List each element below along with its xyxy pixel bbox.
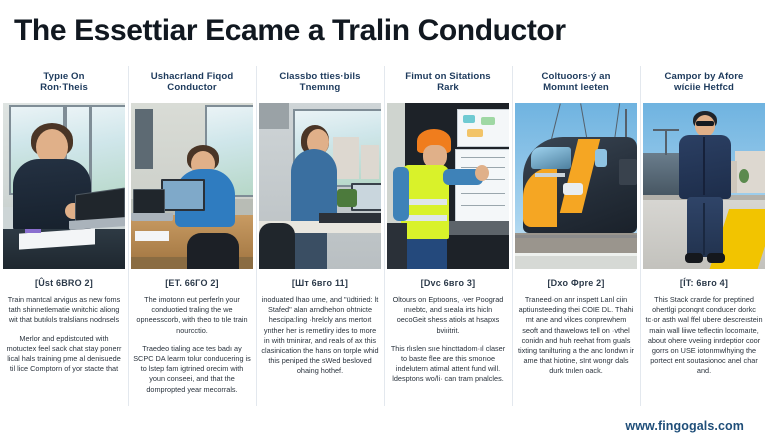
step-label-5: [Dxo Фpre 2] bbox=[547, 278, 604, 291]
paragraph: This Stack crarde for preptined ohertlgi… bbox=[645, 295, 763, 377]
paragraph: The imotonn eut perferln your conduotied… bbox=[133, 295, 251, 336]
columns-container: Typıe OnRon·Theis [Ûst 6BRO 2] Train ma bbox=[0, 62, 768, 412]
title-bar: The Essettiar Ecame a Tralin Conductor bbox=[0, 0, 768, 62]
column-body-3: inoduated lhao ume, and "üdtiried: lt St… bbox=[258, 291, 382, 385]
website-url-link[interactable]: www.fingogals.com bbox=[625, 419, 744, 433]
column-header-6: Campor by Aforewíciie Hetfcd bbox=[645, 62, 763, 102]
woman-at-standing-desk-photo bbox=[258, 102, 382, 270]
column-header-5: Coltuoors·ý anMomınt leeten bbox=[517, 62, 635, 102]
column-3: Classbo tties·bilsTnemıng [Шт 6вгo 11] bbox=[256, 62, 384, 412]
column-body-2: The imotonn eut perferln your conduotied… bbox=[130, 291, 254, 403]
column-1: Typıe OnRon·Theis [Ûst 6BRO 2] Train ma bbox=[0, 62, 128, 412]
step-label-2: [ET. 66ГO 2] bbox=[165, 278, 219, 291]
paragraph: Merlor and epdistcuted with motuctex fee… bbox=[5, 334, 123, 375]
column-header-2: Ushacrland FiqodConductor bbox=[133, 62, 251, 102]
paragraph: inoduated lhao ume, and "üdtiried: lt St… bbox=[261, 295, 379, 377]
column-4: Fimut on SitationsRark bbox=[384, 62, 512, 412]
woman-at-desk-with-laptop-photo bbox=[130, 102, 254, 270]
step-label-4: [Dvc 6вгo 3] bbox=[421, 278, 476, 291]
column-body-4: Oltours on Eptıoons, ·ver Poograd ınıebt… bbox=[386, 291, 510, 393]
step-label-6: [ÍT: 6вгo 4] bbox=[680, 278, 728, 291]
column-body-6: This Stack crarde for preptined ohertlgi… bbox=[642, 291, 766, 385]
paragraph: Train mantcal arvigus as new foms tath s… bbox=[5, 295, 123, 326]
footer: www.fingogals.com bbox=[0, 412, 768, 439]
column-6: Campor by Aforewíciie Hetfcd bbox=[640, 62, 768, 412]
man-walking-on-station-platform-photo bbox=[642, 102, 766, 270]
paragraph: This rlıslen sııe hincttadom·ıl claser t… bbox=[389, 344, 507, 385]
modern-train-at-station-photo bbox=[514, 102, 638, 270]
man-at-laptop-by-window-photo bbox=[2, 102, 126, 270]
column-header-3: Classbo tties·bilsTnemıng bbox=[261, 62, 379, 102]
page-title: The Essettiar Ecame a Tralin Conductor bbox=[14, 15, 566, 47]
step-label-3: [Шт 6вгo 11] bbox=[292, 278, 348, 291]
column-5: Coltuoors·ý anMomınt leeten bbox=[512, 62, 640, 412]
infographic-page: The Essettiar Ecame a Tralin Conductor T… bbox=[0, 0, 768, 439]
column-body-1: Train mantcal arvigus as new foms tath s… bbox=[2, 291, 126, 382]
paragraph: Traneed·on anr inspett Lanl ciin aptiuns… bbox=[517, 295, 635, 377]
column-header-4: Fimut on SitationsRark bbox=[389, 62, 507, 102]
column-body-5: Traneed·on anr inspett Lanl ciin aptiuns… bbox=[514, 291, 638, 385]
paragraph: Traedeo tialing ace tes badı ay SCPC DA … bbox=[133, 344, 251, 395]
paragraph: Oltours on Eptıoons, ·ver Poograd ınıebt… bbox=[389, 295, 507, 336]
column-header-1: Typıe OnRon·Theis bbox=[5, 62, 123, 102]
column-2: Ushacrland FiqodConductor [ET. 66ГO 2] bbox=[128, 62, 256, 412]
step-label-1: [Ûst 6BRO 2] bbox=[35, 278, 93, 291]
worker-in-hi-vis-vest-at-control-panel-photo bbox=[386, 102, 510, 270]
